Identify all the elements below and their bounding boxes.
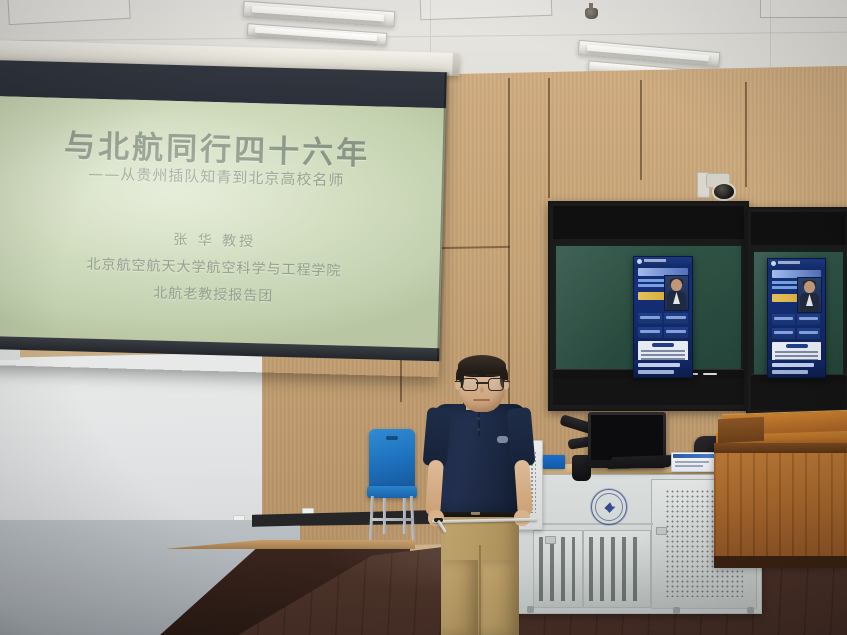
poster-subtitle-line [638, 284, 664, 287]
lecture-poster-right [767, 258, 826, 378]
blue-equipment-box [543, 455, 565, 469]
presentation-slide: 与北航同行四十六年 ——从贵州插队知青到北京高校名师 张 华 教授 北京航空航天… [0, 96, 446, 348]
university-logo-icon [771, 261, 776, 266]
blackboard-lower-frame [553, 378, 744, 405]
poster-info-line [666, 316, 686, 319]
poster-schedule [772, 363, 814, 367]
cabinet-foot [747, 607, 754, 614]
poster-speaker-photo [664, 275, 689, 311]
podium-base [714, 556, 847, 568]
wood-panel-seam [640, 80, 642, 180]
poster-subtitle-line [772, 286, 798, 289]
dome-security-camera [712, 182, 736, 201]
poster-info-box [638, 313, 662, 324]
blackboard-upper-frame [553, 206, 744, 239]
chair-handle-slot [386, 436, 398, 440]
poster-speaker-photo [797, 277, 822, 313]
screen-housing-cap [452, 53, 460, 75]
cabinet-rail [529, 523, 653, 525]
poster-abstract-heading [652, 343, 674, 347]
poster-info-line [640, 330, 660, 333]
chair-leg [383, 498, 386, 534]
monitor-screen [591, 415, 663, 460]
university-logo-icon [637, 259, 642, 264]
speaker-eyebrow-left [464, 374, 479, 376]
cabinet-slot-vent [589, 537, 643, 601]
wood-podium [714, 443, 847, 565]
lecture-poster-left [633, 256, 693, 378]
slide-speaker: 张 华 教授 [0, 224, 442, 256]
poster-header [634, 257, 692, 266]
poster-footer [768, 360, 825, 377]
poster-info-line [640, 316, 660, 319]
poster-footer [634, 360, 692, 377]
cabinet-foot [673, 607, 680, 614]
poster-info-line [666, 330, 686, 333]
poster-info-box [772, 328, 795, 339]
glasses-bridge [476, 382, 488, 384]
ceiling-panel [760, 0, 847, 18]
trouser-center-seam [479, 545, 481, 635]
shirt-logo-embroidery [497, 436, 508, 443]
poster-university-name [644, 259, 666, 262]
blackboard-lower-frame [751, 383, 846, 410]
chair-leg-brace [372, 518, 414, 521]
poster-location [638, 370, 674, 374]
shirt-sleeve-right [507, 407, 536, 467]
card-text-line [675, 465, 703, 467]
glasses-lens-left [462, 378, 478, 391]
shirt-placket [478, 410, 480, 436]
poster-info-box [638, 327, 662, 338]
poster-location [772, 370, 808, 374]
speaker-eyebrow-right [485, 374, 500, 376]
white-wall [0, 352, 262, 542]
poster-info-box [664, 327, 688, 338]
speaker-trouser-leg-left [443, 560, 478, 635]
ceiling-smoke-detector [585, 8, 598, 19]
poster-header [768, 259, 825, 268]
shirt-button [477, 417, 480, 420]
chair-leg [403, 498, 406, 534]
lecture-hall-photo: 与北航同行四十六年 ——从贵州插队知青到北京高校名师 张 华 教授 北京航空航天… [0, 0, 847, 635]
card-text-line [675, 461, 709, 463]
poster-info-line [774, 331, 793, 334]
poster-schedule [638, 363, 680, 367]
card-header-band [673, 454, 715, 458]
glasses-temple-right [502, 381, 510, 382]
poster-info-box [664, 313, 688, 324]
poster-info-line [799, 317, 818, 320]
speaker-nose [480, 387, 484, 393]
poster-abstract-heading [786, 344, 808, 348]
poster-info-line [799, 331, 818, 334]
wood-panel-seam [745, 82, 747, 187]
shirt-sleeve-left [423, 407, 452, 467]
blackboard-upper-frame [751, 212, 846, 245]
cabinet-slot-vent [539, 537, 575, 601]
speaker-trouser-leg-right [483, 560, 518, 635]
shirt-button [477, 428, 480, 431]
cabinet-handle[interactable] [545, 536, 556, 544]
slide-affiliation: 北京航空航天大学航空科学与工程学院 [0, 251, 442, 283]
chalk-piece [703, 373, 717, 375]
podium-side-panel [718, 417, 764, 443]
poster-university-name [778, 261, 800, 264]
podium-top-shadow [714, 443, 847, 453]
cabinet-foot [527, 606, 534, 613]
poster-info-box [797, 328, 820, 339]
university-seal-emblem [591, 489, 627, 525]
blue-chair-backrest[interactable] [369, 429, 415, 489]
keyboard[interactable] [607, 455, 675, 469]
poster-info-line [774, 317, 793, 320]
projection-screen: 与北航同行四十六年 ——从贵州插队知青到北京高校名师 张 华 教授 北京航空航天… [0, 60, 447, 377]
speaker-mouth [473, 399, 490, 401]
glasses-temple-left [455, 381, 463, 382]
photo-head [671, 279, 682, 291]
glasses-lens-right [488, 378, 504, 391]
slide-organization: 北航老教授报告团 [0, 278, 441, 310]
photo-head [804, 281, 815, 293]
abstract-text-line [775, 351, 818, 353]
wood-panel-seam [548, 78, 550, 198]
abstract-text-line [641, 350, 685, 352]
abstract-text-line [775, 355, 818, 357]
poster-info-box [772, 314, 795, 325]
cabinet-handle[interactable] [656, 527, 667, 535]
desk-info-card [671, 452, 717, 472]
abstract-text-line [641, 354, 685, 356]
poster-info-box [797, 314, 820, 325]
